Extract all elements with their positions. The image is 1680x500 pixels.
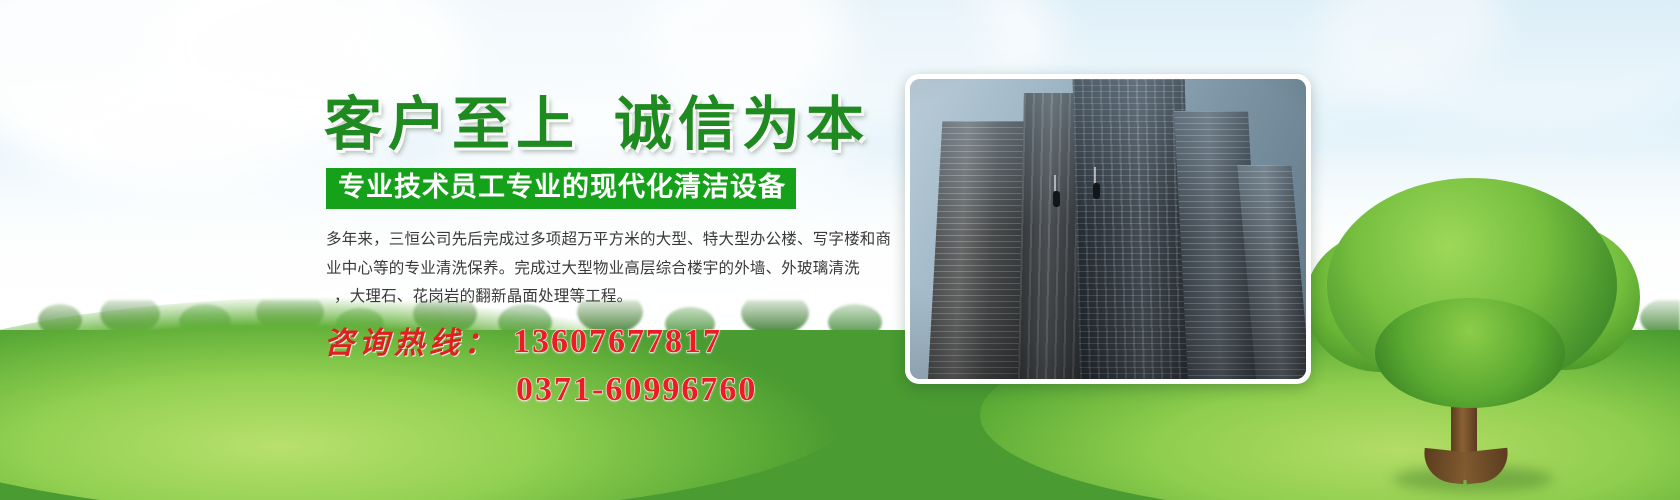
description-paragraph: 多年来，三恒公司先后完成过多项超万平方米的大型、特大型办公楼、写字楼和商业中心等…: [326, 225, 898, 311]
description-line-3: ，大理石、花岗岩的翻新晶面处理等工程。: [326, 282, 898, 311]
headline-part-left: 客户至上: [324, 92, 580, 157]
tree-crown: [1375, 298, 1565, 408]
hotline-label: 咨询热线：: [324, 329, 499, 359]
banner-content: 客户至上诚信为本 专业技术员工专业的现代化清洁设备 多年来，三恒公司先后完成过多…: [318, 96, 918, 407]
hotline-secondary-row: 0371-60996760: [502, 373, 918, 407]
description-line-1: 多年来，三恒公司先后完成过多项超万平方米的大型、特大型办公楼、写字楼和: [326, 230, 876, 248]
hotline-block: 咨询热线： 13607677817 0371-60996760: [324, 325, 918, 407]
hotline-primary-row: 咨询热线： 13607677817: [324, 325, 918, 359]
promo-banner: 客户至上诚信为本 专业技术员工专业的现代化清洁设备 多年来，三恒公司先后完成过多…: [0, 0, 1680, 500]
building-photo: [910, 79, 1306, 379]
photo-vignette: [910, 79, 1306, 379]
cloud-icon: [1320, 0, 1680, 130]
building-photo-frame: [905, 74, 1311, 384]
hotline-mobile-number[interactable]: 13607677817: [513, 325, 722, 359]
hotline-landline-number[interactable]: 0371-60996760: [516, 373, 757, 407]
headline-part-right: 诚信为本: [614, 92, 870, 157]
subtitle-bar-label: 专业技术员工专业的现代化清洁设备: [338, 174, 786, 201]
tree-illustration: [1305, 170, 1635, 470]
banner-headline: 客户至上诚信为本: [324, 96, 918, 154]
subtitle-bar: 专业技术员工专业的现代化清洁设备: [326, 168, 796, 209]
